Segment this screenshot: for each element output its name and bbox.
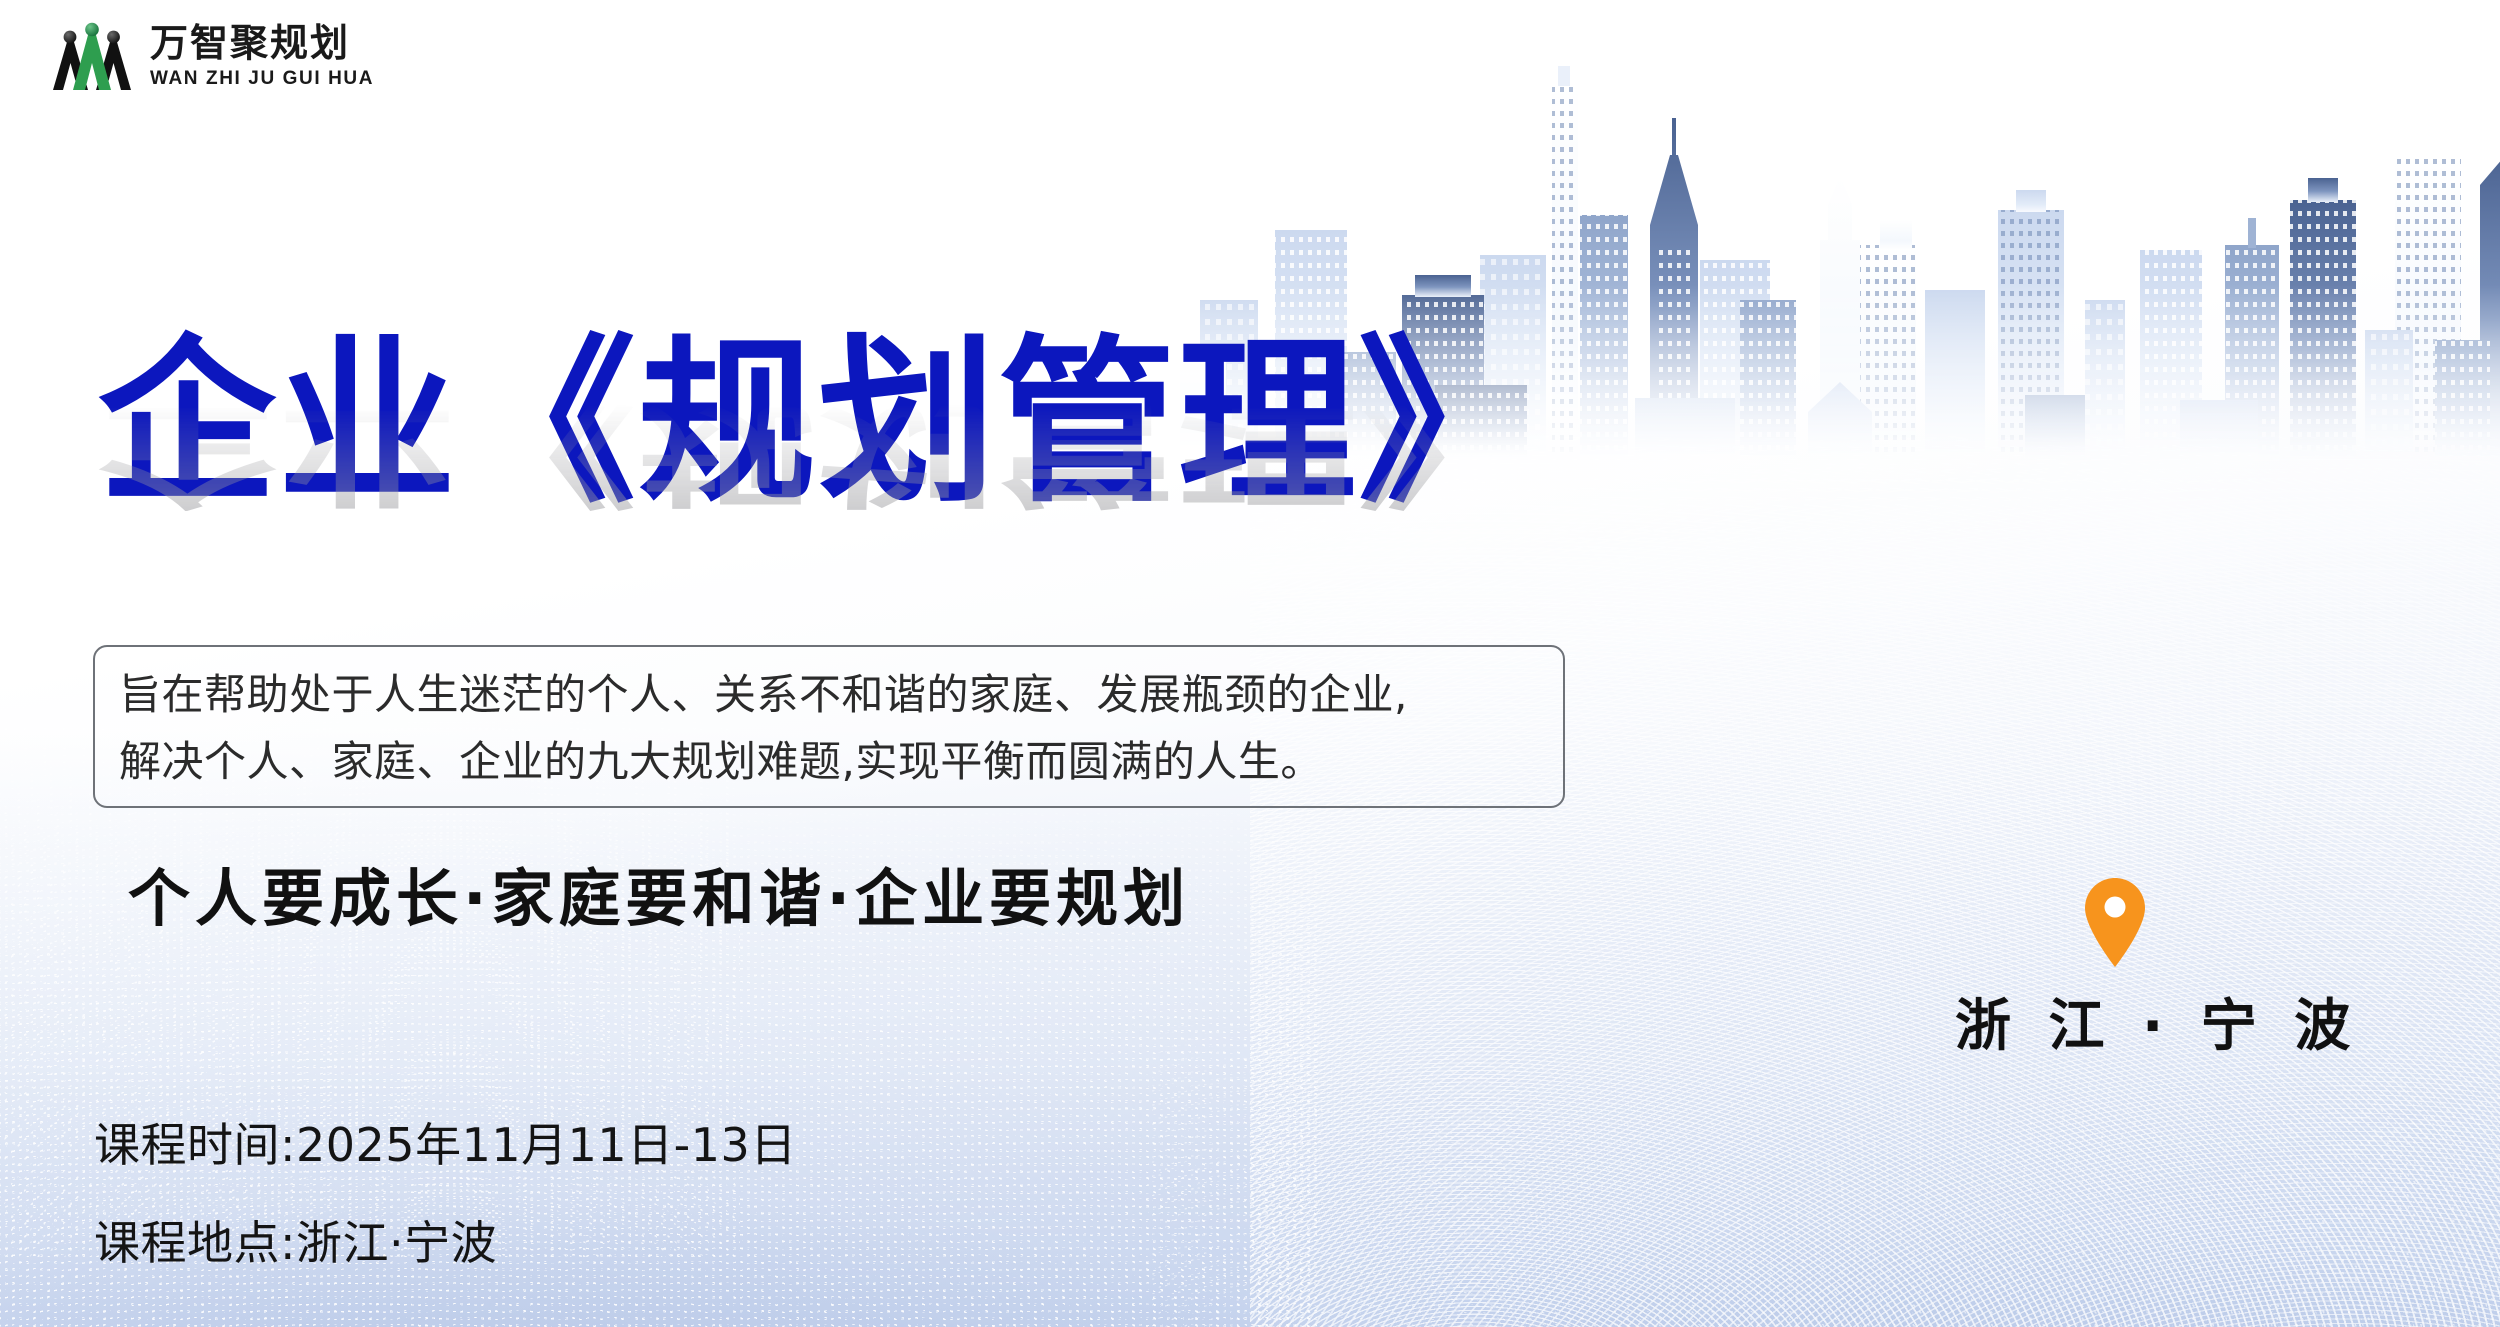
hero-tagline: 个人要成长·家庭要和谐·企业要规划 bbox=[128, 848, 1190, 938]
course-venue: 课程地点:浙江·宁波 bbox=[94, 1220, 797, 1266]
description-line-1: 旨在帮助处于人生迷茫的个人、关系不和谐的家庭、发展瓶颈的企业, bbox=[119, 661, 1539, 728]
poster-canvas: 万智聚规划 WAN ZHI JU GUI HUA 企业《规划管理》 企业《规划管… bbox=[0, 0, 2500, 1327]
description-line-2: 解决个人、家庭、企业的九大规划难题,实现平衡而圆满的人生。 bbox=[119, 728, 1539, 795]
location-block: 浙 江 · 宁 波 bbox=[1955, 877, 2275, 1062]
three-people-group-icon bbox=[48, 18, 136, 94]
location-label: 浙 江 · 宁 波 bbox=[1955, 981, 2275, 1062]
brand-name-cn: 万智聚规划 bbox=[150, 24, 374, 62]
brand-name-en: WAN ZHI JU GUI HUA bbox=[150, 69, 374, 88]
course-time: 课程时间:2025年11月11日-13日 bbox=[94, 1122, 797, 1168]
page-title-reflection: 企业《规划管理》 bbox=[98, 395, 1538, 511]
course-info-block: 课程时间:2025年11月11日-13日 课程地点:浙江·宁波 bbox=[94, 1122, 797, 1266]
map-pin-icon bbox=[2082, 877, 2148, 967]
hero-title-block: 企业《规划管理》 企业《规划管理》 bbox=[98, 330, 1538, 698]
brand-logo[interactable]: 万智聚规划 WAN ZHI JU GUI HUA bbox=[48, 18, 374, 94]
description-box: 旨在帮助处于人生迷茫的个人、关系不和谐的家庭、发展瓶颈的企业, 解决个人、家庭、… bbox=[93, 645, 1565, 808]
brand-logo-text: 万智聚规划 WAN ZHI JU GUI HUA bbox=[150, 24, 374, 88]
